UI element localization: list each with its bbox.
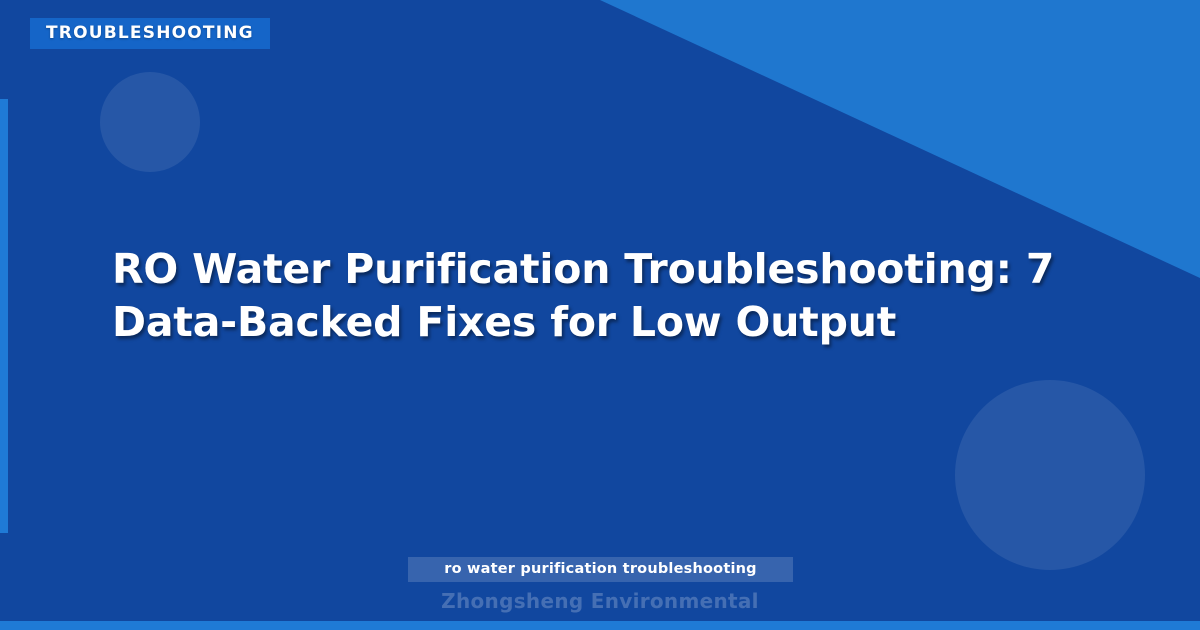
bottom-accent-bar: [0, 621, 1200, 630]
page-title: RO Water Purification Troubleshooting: 7…: [112, 243, 1132, 350]
banner-canvas: TROUBLESHOOTING RO Water Purification Tr…: [0, 0, 1200, 630]
left-accent-bar: [0, 99, 8, 533]
footer-brand-name: Zhongsheng Environmental: [0, 591, 1200, 611]
decorative-circle-bottom-right: [955, 380, 1145, 570]
decorative-circle-top-left: [100, 72, 200, 172]
keyword-pill: ro water purification troubleshooting: [408, 557, 793, 582]
category-badge: TROUBLESHOOTING: [30, 18, 270, 49]
